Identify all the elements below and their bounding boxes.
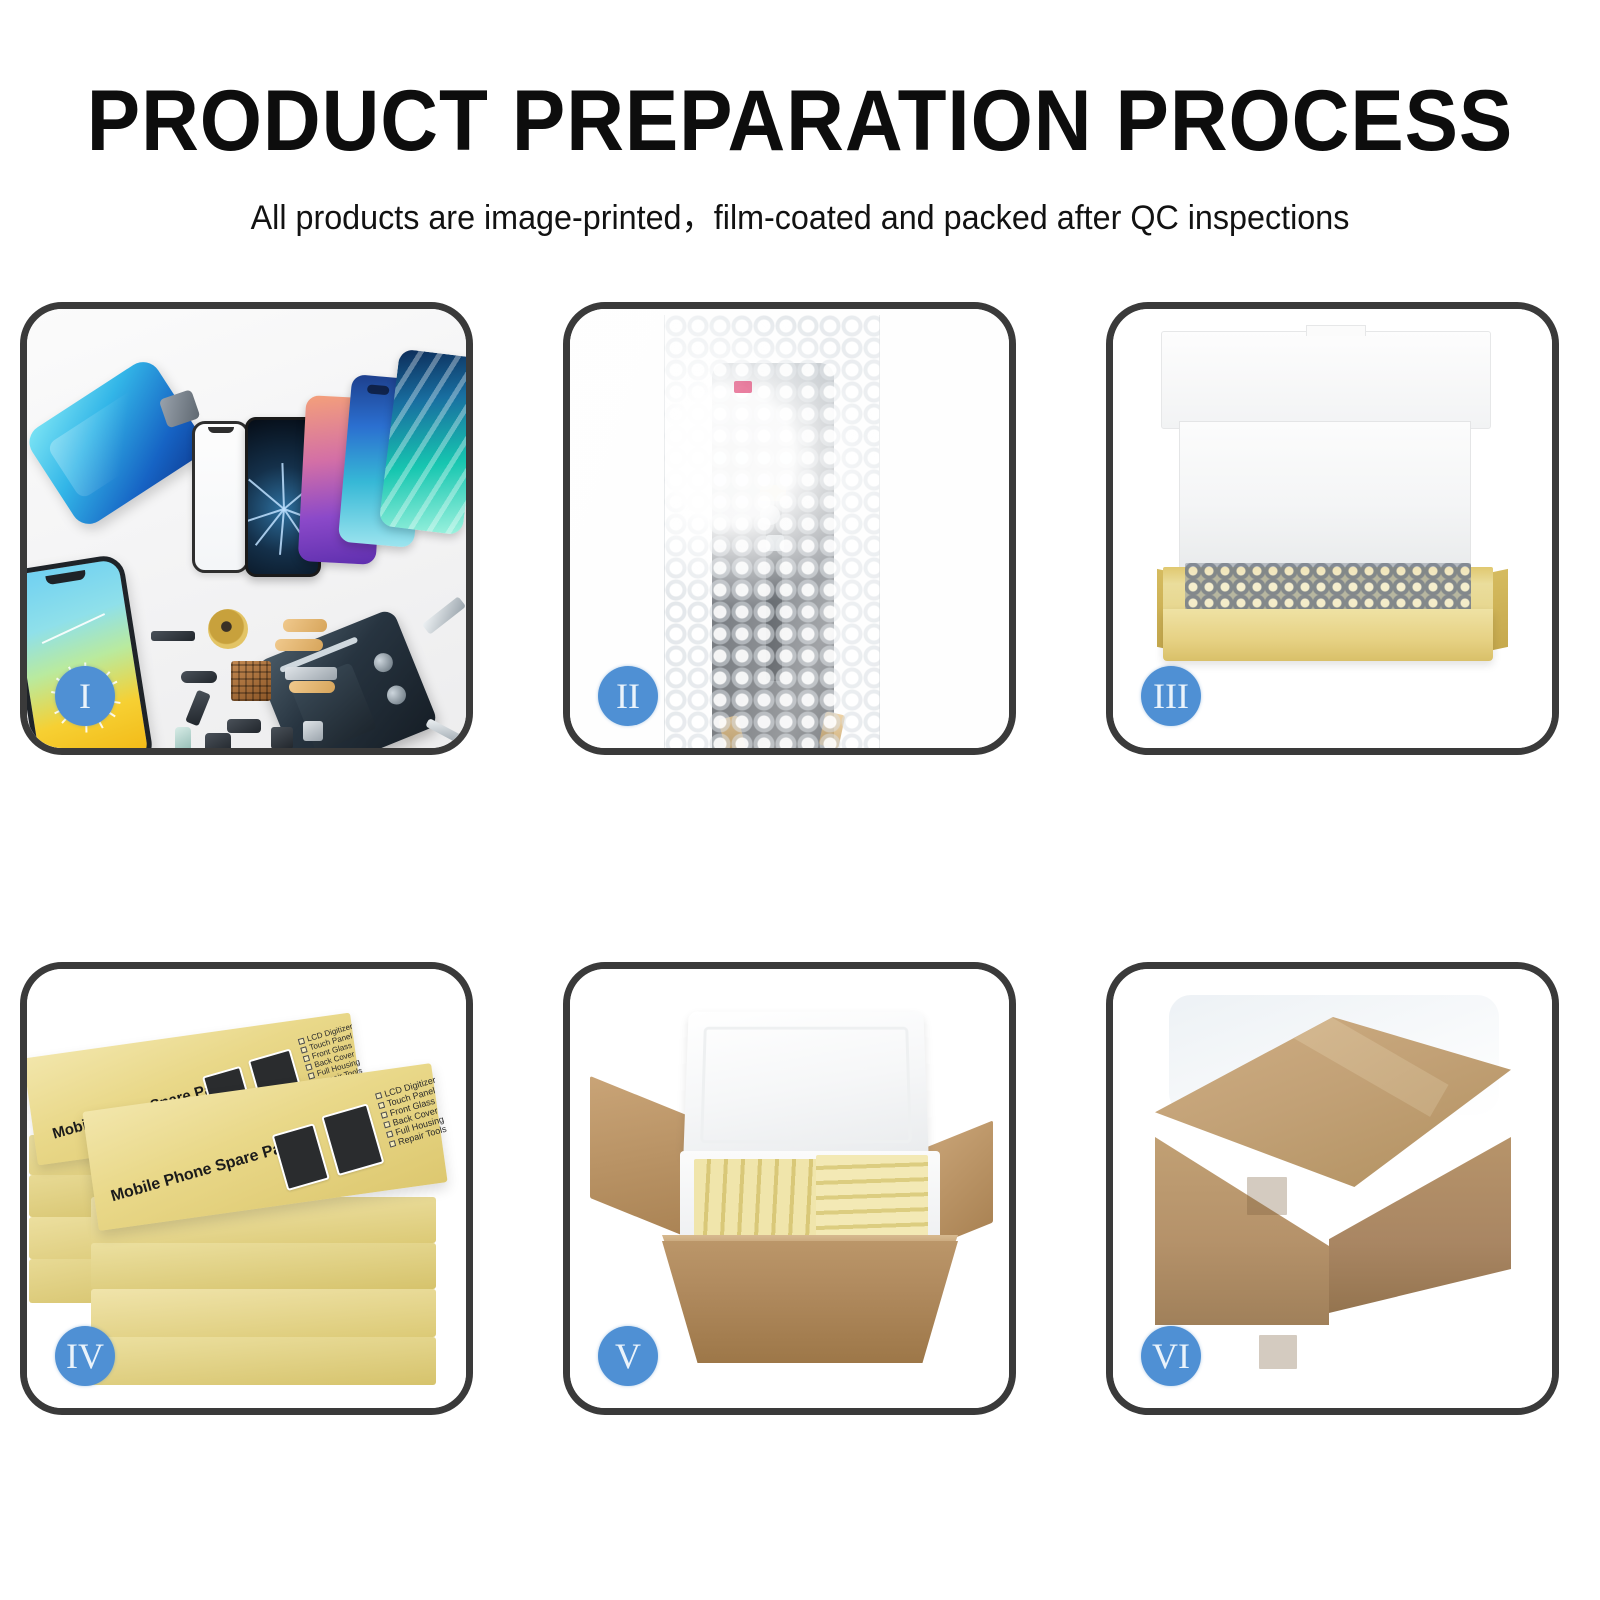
wireless-charging-coil-part [208,609,248,649]
step-badge-5: V [598,1326,658,1386]
step-badge-3: III [1141,666,1201,726]
steps-grid: I II [0,0,1600,1600]
flex-cable-part-a [283,619,327,632]
retail-box-front-4 [91,1337,436,1385]
sim-tray-part [175,727,191,748]
carton-flap-seam-upper [1247,1177,1287,1215]
white-foam-sheet [1179,421,1471,571]
flex-cable-part-b [275,639,323,651]
vibration-motor-part [227,719,261,733]
styrofoam-lid [683,1012,929,1160]
carton-flap-seam-lower [1259,1335,1297,1369]
retail-box-front-2 [91,1243,436,1289]
step-badge-2: II [598,666,658,726]
step-panel-5[interactable]: V [563,962,1016,1415]
step-panel-2[interactable]: II [563,302,1016,755]
connector-strip-part [285,667,337,680]
step-panel-4[interactable]: Mobile Phone Spare Parts LCD Digitizer T… [20,962,473,1415]
step-badge-6: VI [1141,1326,1201,1386]
retail-box-front-3 [91,1289,436,1337]
step-badge-4: IV [55,1326,115,1386]
product-preparation-infographic: PRODUCT PREPARATION PROCESS All products… [0,0,1600,1600]
camera-module-part [271,727,293,748]
gray-bubble-padding [1185,563,1471,615]
metal-bracket-part [303,721,323,741]
step-badge-1: I [55,666,115,726]
charging-port-part [205,733,231,748]
step-panel-1[interactable]: I [20,302,473,755]
inner-box-lid-flap [1161,331,1491,429]
ic-chip-part [231,661,271,701]
step-panel-6[interactable]: VI [1106,962,1559,1415]
step-panel-3[interactable]: III [1106,302,1559,755]
screen-protector-glass [192,421,249,573]
flex-cable-part-c [289,681,335,693]
button-flex-part [181,671,217,683]
inner-box-front-panel [1163,609,1493,661]
earpiece-speaker-part [151,631,195,641]
packed-gold-boxes-row-b [816,1155,928,1247]
carton-body-open [662,1241,958,1363]
